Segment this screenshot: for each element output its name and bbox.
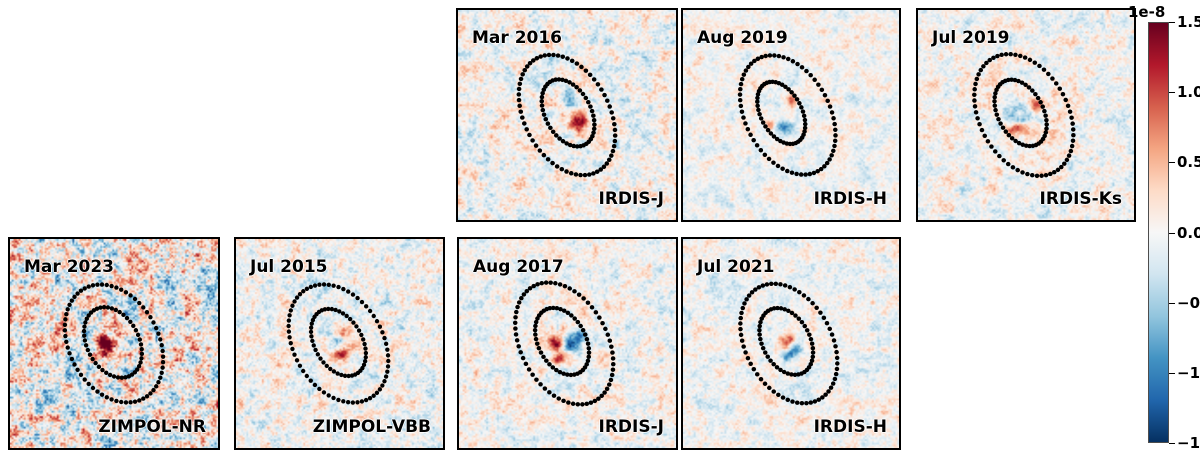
figure-canvas: Mar 2016IRDIS-JAug 2019IRDIS-HJul 2019IR… (0, 0, 1200, 457)
disk-ellipse-outer (286, 282, 390, 404)
colorbar-tick-mark (1169, 373, 1175, 374)
colorbar-tick-label: 1.5 (1177, 13, 1200, 31)
colorbar-tick-mark (1169, 443, 1175, 444)
image-panel: Mar 2023ZIMPOL-NR (8, 237, 220, 450)
colorbar-tick-label: −0.5 (1177, 294, 1200, 312)
image-panel: Jul 2019IRDIS-Ks (916, 8, 1136, 222)
panel-instrument-label: IRDIS-Ks (1040, 191, 1122, 208)
panel-date-label: Aug 2017 (473, 259, 564, 276)
colorbar-tick-mark (1169, 22, 1175, 23)
panel-instrument-label: IRDIS-J (599, 419, 664, 436)
colorbar-tick-label: −1.5 (1177, 434, 1200, 452)
disk-ellipse-outer (972, 52, 1076, 178)
colorbar-tick-label: 0.5 (1177, 153, 1200, 171)
disk-ellipse-outer (738, 53, 838, 177)
panel-instrument-label: IRDIS-H (814, 191, 887, 208)
panel-instrument-label: IRDIS-H (814, 419, 887, 436)
image-panel: Mar 2016IRDIS-J (456, 8, 678, 222)
colorbar-tick-label: 0.0 (1177, 224, 1200, 242)
panel-instrument-label: ZIMPOL-VBB (313, 419, 431, 436)
panel-date-label: Jul 2015 (250, 259, 328, 276)
disk-ellipse-inner (755, 80, 807, 147)
disk-ellipse-inner (309, 307, 368, 378)
disk-ellipse-outer (513, 280, 616, 406)
colorbar: 1e-8 1.51.00.50.0−0.5−1.0−1.5 (1128, 0, 1200, 457)
disk-ellipse-inner (539, 77, 596, 148)
disk-ellipse-outer (738, 282, 839, 406)
disk-ellipse-outer (63, 282, 166, 404)
colorbar-tick-mark (1169, 92, 1175, 93)
colorbar-tick-label: 1.0 (1177, 83, 1200, 101)
disk-ellipse-inner (757, 306, 815, 377)
image-panel: Jul 2021IRDIS-H (681, 237, 901, 450)
colorbar-tick-label: −1.0 (1177, 364, 1200, 382)
image-panel: Aug 2019IRDIS-H (681, 8, 901, 222)
panel-date-label: Aug 2019 (697, 30, 788, 47)
colorbar-tick-mark (1169, 303, 1175, 304)
panel-date-label: Jul 2021 (697, 259, 775, 276)
panel-instrument-label: IRDIS-J (599, 191, 664, 208)
disk-ellipse-inner (82, 305, 144, 380)
image-panel: Jul 2015ZIMPOL-VBB (234, 237, 445, 450)
panel-date-label: Mar 2016 (472, 30, 562, 47)
colorbar-tick-mark (1169, 233, 1175, 234)
image-panel: Aug 2017IRDIS-J (457, 237, 678, 450)
disk-ellipse-inner (992, 77, 1049, 148)
disk-ellipse-inner (533, 306, 591, 377)
colorbar-tick-mark (1169, 162, 1175, 163)
panel-date-label: Jul 2019 (932, 30, 1010, 47)
panel-instrument-label: ZIMPOL-NR (98, 419, 206, 436)
panel-date-label: Mar 2023 (24, 259, 114, 276)
disk-ellipse-outer (517, 53, 618, 178)
colorbar-gradient (1148, 22, 1169, 443)
